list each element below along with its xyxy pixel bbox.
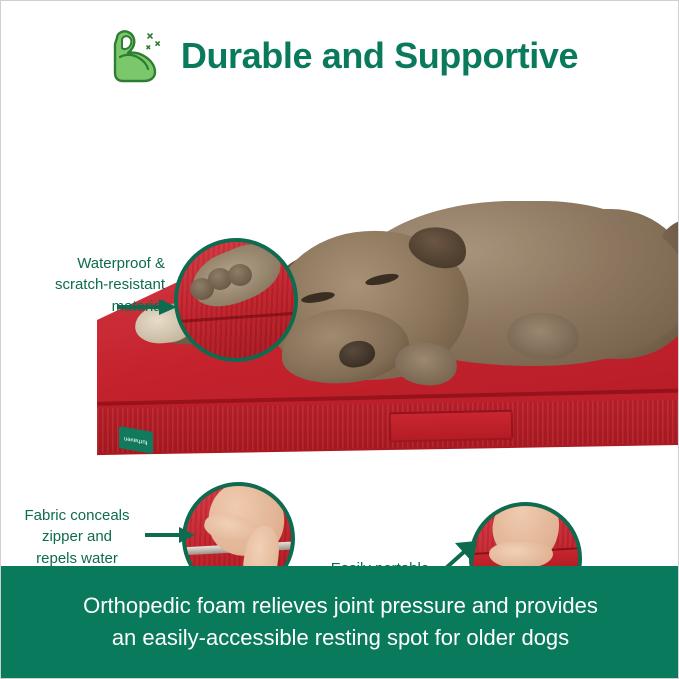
page-title: Durable and Supportive bbox=[181, 35, 578, 77]
annotation-line: scratch-resistant bbox=[15, 274, 165, 295]
annotation-line: Waterproof & bbox=[15, 253, 165, 274]
brand-tag-label: furhaven bbox=[124, 435, 147, 445]
header: Durable and Supportive bbox=[1, 17, 679, 95]
arrow-right-icon bbox=[117, 297, 179, 317]
banner-line: Orthopedic foam relieves joint pressure … bbox=[83, 592, 598, 620]
arrow-right-icon bbox=[145, 525, 197, 545]
callout-circle-zipper bbox=[182, 482, 295, 566]
paw-toe bbox=[228, 264, 252, 286]
annotation-line: Fabric conceals bbox=[7, 505, 147, 526]
product-photo: furhaven bbox=[1, 101, 679, 566]
arrow-up-right-icon bbox=[425, 539, 481, 566]
product-infographic: Durable and Supportive furhaven bbox=[0, 0, 679, 679]
annotation-zipper: Fabric conceals zipper and repels water bbox=[7, 505, 147, 566]
banner-line: an easily-accessible resting spot for ol… bbox=[112, 624, 569, 652]
knuckles bbox=[489, 542, 553, 566]
sparkle-marks-icon bbox=[147, 34, 159, 49]
callout-circle-waterproof bbox=[174, 238, 298, 362]
annotation-line: repels water bbox=[7, 548, 147, 566]
callout-circle-handle bbox=[469, 502, 582, 566]
bottom-banner: Orthopedic foam relieves joint pressure … bbox=[1, 566, 679, 678]
annotation-line: zipper and bbox=[7, 526, 147, 547]
flexed-bicep-icon bbox=[103, 24, 167, 88]
